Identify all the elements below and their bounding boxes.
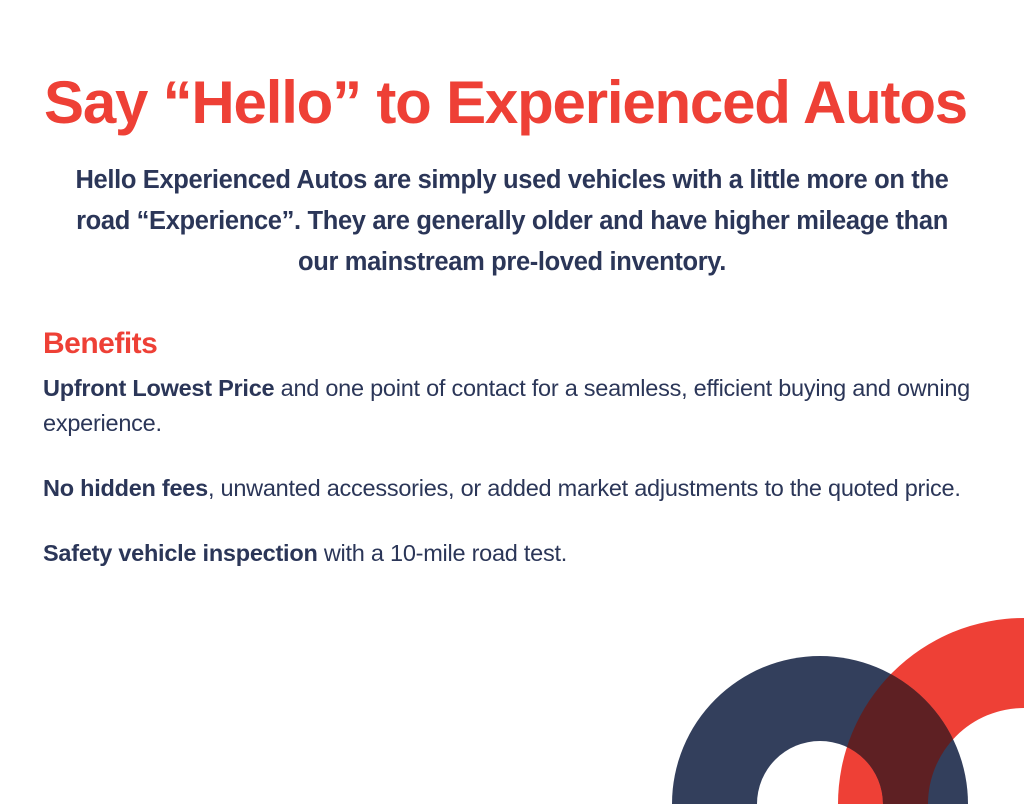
benefit-lead: No hidden fees [43,475,208,501]
benefits-heading: Benefits [43,325,157,363]
overlapping-rings-graphic [620,594,1024,804]
intro-paragraph: Hello Experienced Autos are simply used … [62,160,962,283]
benefit-lead: Safety vehicle inspection [43,540,318,566]
benefit-item: No hidden fees, unwanted accessories, or… [43,471,973,506]
navy-ring-shape [620,594,1024,804]
benefit-lead: Upfront Lowest Price [43,375,274,401]
benefit-text: , unwanted accessories, or added market … [208,475,961,501]
ring-overlap-shape [620,594,1024,804]
red-ring-shape [620,594,1024,804]
benefit-item: Upfront Lowest Price and one point of co… [43,371,973,441]
benefits-list: Upfront Lowest Price and one point of co… [43,371,973,571]
benefit-item: Safety vehicle inspection with a 10-mile… [43,536,973,571]
page-canvas: Say “Hello” to Experienced Autos Hello E… [0,0,1024,804]
page-title: Say “Hello” to Experienced Autos [44,66,984,140]
benefit-text: with a 10-mile road test. [318,540,568,566]
